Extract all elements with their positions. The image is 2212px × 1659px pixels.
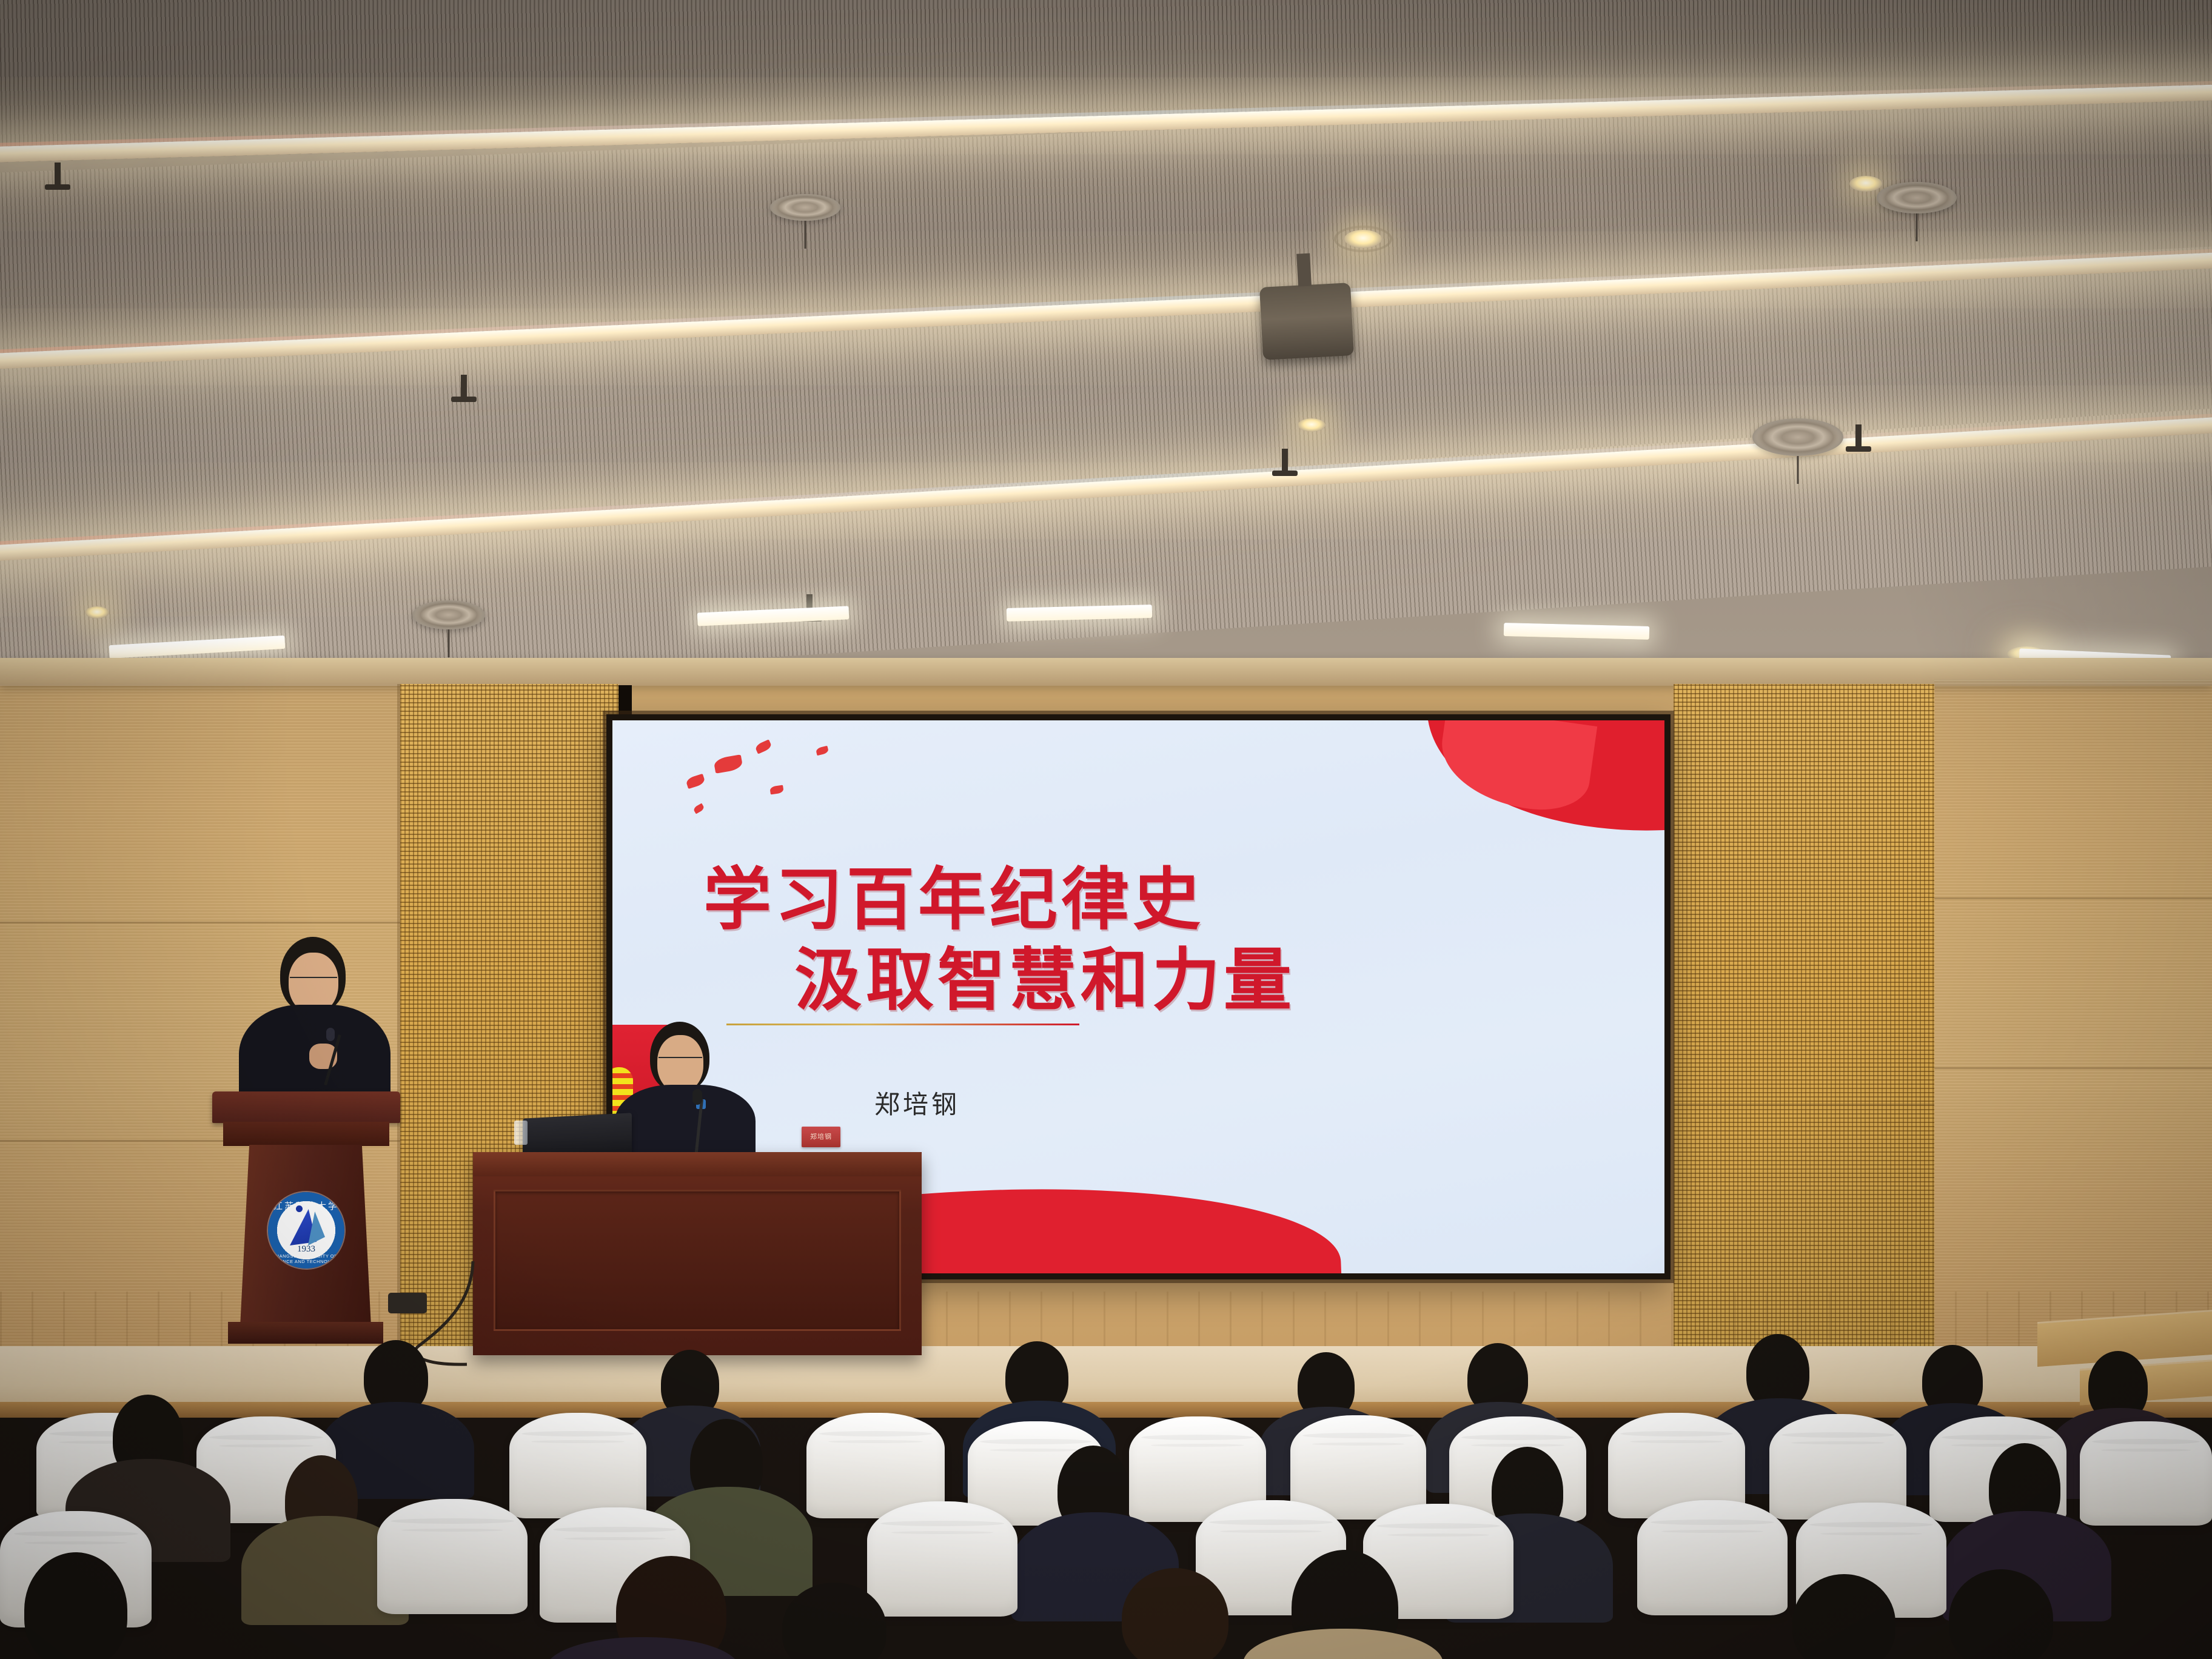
ceiling-downlight: [1298, 418, 1326, 432]
audience-shoulders: [1243, 1629, 1443, 1659]
name-placard: 郑培钢: [802, 1127, 840, 1147]
chair[interactable]: [377, 1499, 528, 1614]
glasses-icon: [290, 977, 337, 978]
lectern: 江苏科技大学 1933 JIANGSU UNIVERSITY OF SCIENC…: [212, 1091, 406, 1346]
panel-seam: [0, 922, 400, 923]
table-mic-head: [692, 1089, 702, 1105]
wood-wall-panel: [1934, 679, 2212, 1358]
seated-speaker: [625, 1022, 746, 1167]
lectern-base: [228, 1322, 383, 1344]
air-diffuser: [770, 194, 840, 221]
fire-sprinkler: [55, 163, 61, 189]
air-diffuser: [412, 600, 485, 629]
floor-cable: [400, 1261, 716, 1376]
seated-speaker-face: [657, 1035, 703, 1092]
logo-english-name: JIANGSU UNIVERSITY OF SCIENCE AND TECHNO…: [268, 1253, 344, 1264]
slide-title-line-2: 汲取智慧和力量: [794, 925, 1295, 1024]
lectern-top: [212, 1091, 400, 1123]
chair[interactable]: [509, 1413, 646, 1518]
fire-sprinkler: [1855, 424, 1862, 451]
logo-chinese-name: 江苏科技大学: [268, 1199, 344, 1212]
ceiling-downlight: [1849, 176, 1882, 192]
air-diffuser: [1752, 418, 1843, 456]
audience-head: [24, 1552, 127, 1659]
dove-icon: [769, 785, 784, 795]
fire-sprinkler: [1282, 449, 1288, 475]
university-logo: 江苏科技大学 1933 JIANGSU UNIVERSITY OF SCIENC…: [268, 1192, 344, 1269]
ceiling-downlight: [85, 606, 109, 618]
logo-dot: [296, 1205, 303, 1212]
wall-top-trim: [0, 658, 2212, 686]
slide-red-ribbon-decoration: [1435, 720, 1597, 817]
ceiling-downlight: [1344, 230, 1382, 248]
lectern-apron: [223, 1122, 389, 1146]
air-diffuser: [1877, 182, 1957, 213]
panel-seam: [1674, 1104, 1934, 1105]
head-table-top: [473, 1152, 922, 1176]
dove-icon: [685, 774, 706, 789]
ceiling: [0, 0, 2212, 691]
slide-divider-rule: [726, 1024, 1079, 1025]
name-placard-text: 郑培钢: [802, 1127, 840, 1147]
stage-front-lip: [0, 1402, 2212, 1418]
fire-sprinkler: [461, 375, 467, 401]
dove-icon: [713, 754, 743, 774]
dove-icon: [754, 739, 773, 754]
chair[interactable]: [2080, 1421, 2212, 1526]
panel-seam: [1934, 1067, 2212, 1069]
chair[interactable]: [1637, 1500, 1788, 1615]
auditorium-scene: 学习百年纪律史 汲取智慧和力量 郑培钢 江苏科技大: [0, 0, 2212, 1659]
floor-speaker-box: [388, 1293, 427, 1313]
lectern-body: 江苏科技大学 1933 JIANGSU UNIVERSITY OF SCIENC…: [240, 1145, 371, 1327]
drinking-cup: [514, 1121, 528, 1145]
ceiling-projector: [1259, 283, 1354, 360]
perforated-acoustic-panel: [1674, 684, 1934, 1348]
dove-icon: [692, 803, 705, 814]
chair[interactable]: [867, 1501, 1017, 1617]
speaker-face: [289, 953, 338, 1013]
dove-icon: [816, 746, 829, 756]
chair[interactable]: [1290, 1415, 1426, 1520]
lectern-mic-head: [326, 1028, 335, 1041]
panel-seam: [1934, 897, 2212, 899]
glasses-icon: [659, 1057, 702, 1058]
slide-author-name: 郑培钢: [874, 1084, 960, 1121]
